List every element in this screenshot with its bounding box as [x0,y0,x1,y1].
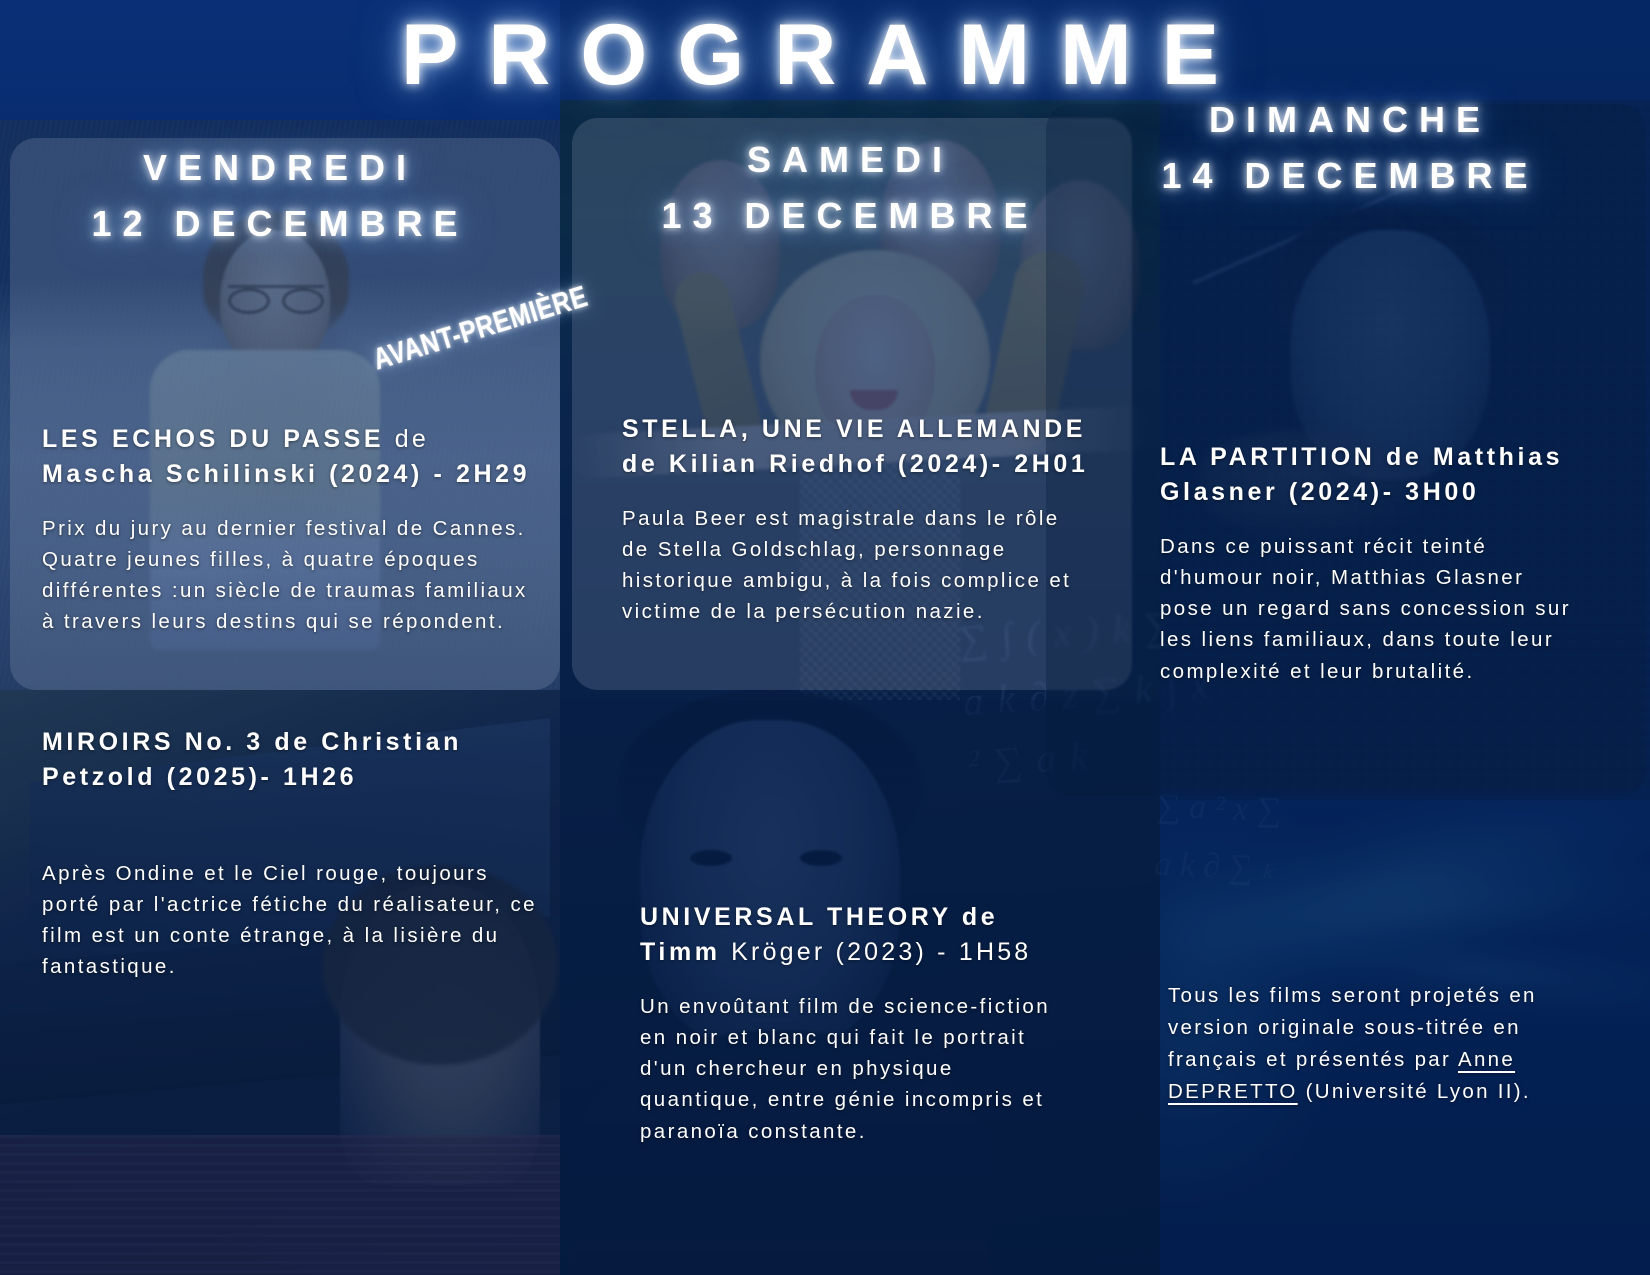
film-title-main: LA PARTITION [1160,443,1375,471]
film-description: Prix du jury au dernier festival de Cann… [42,513,542,638]
film-title-credits: de Kilian Riedhof (2024)- 2H01 [622,450,1088,478]
film-description: Un envoûtant film de science-fiction en … [640,991,1070,1147]
day-heading-line2: 13 DECEMBRE [580,188,1120,244]
film-title: LES ECHOS DU PASSE de Mascha Schilinski … [42,422,542,491]
film-title: LA PARTITION de Matthias Glasner (2024)-… [1160,440,1580,509]
festival-programme-poster: ∑ ∫ ( x ) k ∑ a k ∂ z ∑ k ∫ x ² ∑ a k ∑ … [0,0,1650,1275]
day-heading-line2: 14 DECEMBRE [1060,148,1640,204]
film-title-main: MIROIRS No. 3 [42,728,264,756]
film-title: MIROIRS No. 3 de Christian Petzold (2025… [42,725,542,794]
film-title: STELLA, UNE VIE ALLEMANDE de Kilian Ried… [622,412,1092,481]
day-heading-line1: DIMANCHE [1060,92,1640,148]
day-heading-line1: VENDREDI [20,140,540,196]
day-heading-dimanche: DIMANCHE 14 DECEMBRE [1060,92,1640,204]
film-title: UNIVERSAL THEORY de Timm Kröger (2023) -… [640,900,1070,969]
screening-note-affiliation: (Université Lyon II). [1298,1080,1531,1103]
film-title-main: UNIVERSAL THEORY [640,903,951,931]
film-entry-stella-une-vie-allemande: STELLA, UNE VIE ALLEMANDE de Kilian Ried… [622,412,1092,628]
film-title-connector: de [395,425,429,453]
film-title-credits: Kröger (2023) - 1H58 [731,938,1031,966]
film-entry-universal-theory: UNIVERSAL THEORY de Timm Kröger (2023) -… [640,900,1070,1147]
screening-note-text: Tous les films seront projetés en versio… [1168,980,1568,1108]
film-title-credits: Mascha Schilinski (2024) - 2H29 [42,460,530,488]
film-description: Dans ce puissant récit teinté d'humour n… [1160,531,1580,687]
day-heading-samedi: SAMEDI 13 DECEMBRE [580,132,1120,244]
day-heading-vendredi: VENDREDI 12 DECEMBRE [20,140,540,252]
film-description: Paula Beer est magistrale dans le rôle d… [622,503,1092,628]
film-entry-les-echos-du-passe: LES ECHOS DU PASSE de Mascha Schilinski … [42,422,542,638]
day-heading-line2: 12 DECEMBRE [20,196,540,252]
screening-note: Tous les films seront projetés en versio… [1168,980,1568,1108]
film-description: Après Ondine et le Ciel rouge, toujours … [42,858,542,983]
film-entry-miroirs-no-3: MIROIRS No. 3 de Christian Petzold (2025… [42,725,542,983]
film-title-main: STELLA, UNE VIE ALLEMANDE [622,415,1086,443]
page-title: PROGRAMME [0,6,1650,105]
film-entry-la-partition: LA PARTITION de Matthias Glasner (2024)-… [1160,440,1580,687]
day-heading-line1: SAMEDI [580,132,1120,188]
film-title-main: LES ECHOS DU PASSE [42,425,395,453]
